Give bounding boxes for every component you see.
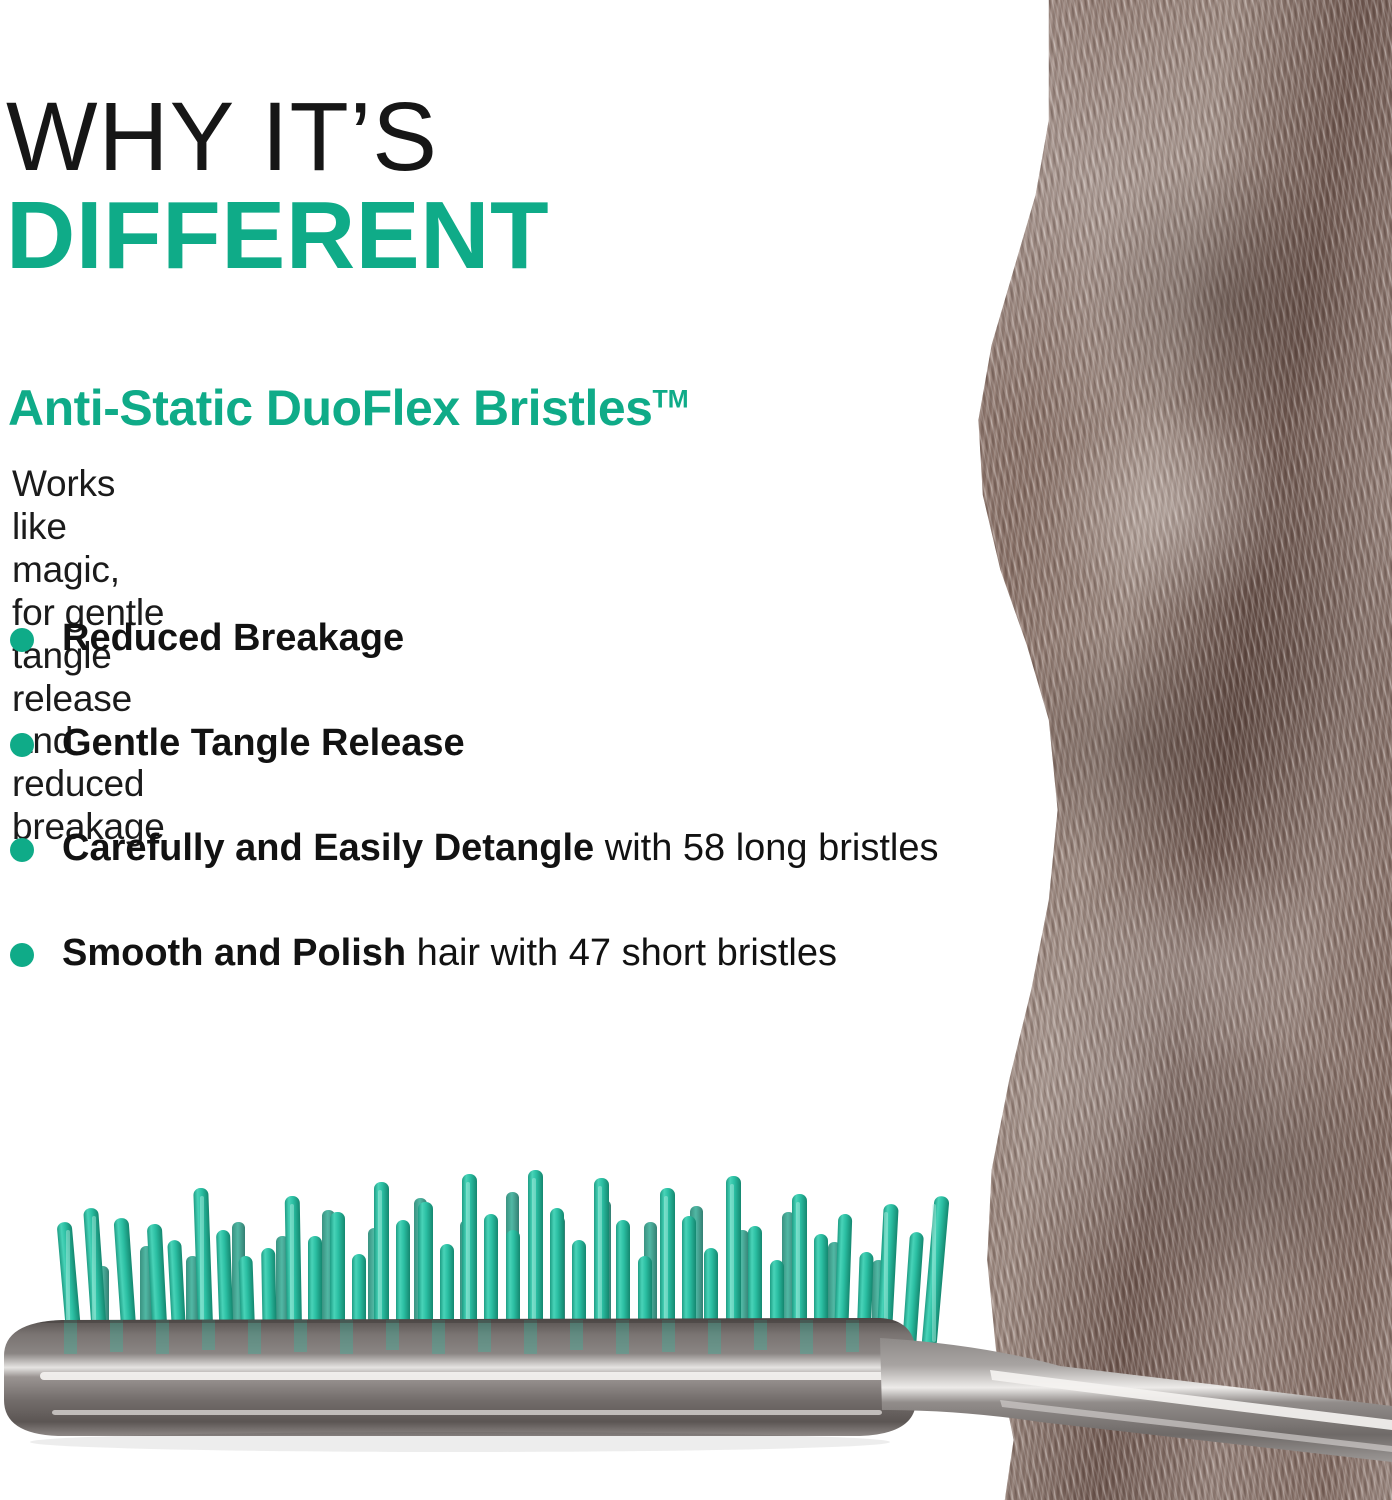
bullet-bold-text: Reduced Breakage [62, 617, 404, 659]
brush-shadow [30, 1432, 890, 1452]
bullet-bold-text: Carefully and Easily Detangle [62, 827, 594, 869]
feature-title-text: Anti-Static DuoFlex Bristles [8, 380, 652, 436]
bullet-label: Smooth and Polish hair with 47 short bri… [62, 930, 837, 978]
bullet-dot-icon [10, 733, 34, 757]
brush-head-body [0, 1316, 916, 1436]
bullet-label: Carefully and Easily Detangle with 58 lo… [62, 825, 938, 873]
bullet-dot-icon [10, 628, 34, 652]
brush-handle [880, 1338, 1392, 1462]
headline-line-1: WHY IT’S [6, 88, 438, 185]
headline-line-2: DIFFERENT [6, 188, 549, 284]
bullet-regular-text: with 58 long bristles [594, 827, 938, 869]
bullet-bold-text: Smooth and Polish [62, 932, 406, 974]
bullet-dot-icon [10, 838, 34, 862]
hair-brush-image [0, 1070, 1392, 1500]
brush-svg [0, 1070, 1392, 1500]
feature-title: Anti-Static DuoFlex BristlesTM [8, 383, 689, 433]
trademark-symbol: TM [652, 385, 688, 413]
bullet-label: Gentle Tangle Release [62, 720, 465, 768]
bullet-dot-icon [10, 943, 34, 967]
bullet-regular-text: hair with 47 short bristles [406, 932, 837, 974]
bullet-bold-text: Gentle Tangle Release [62, 722, 465, 764]
bullet-label: Reduced Breakage [62, 615, 404, 663]
